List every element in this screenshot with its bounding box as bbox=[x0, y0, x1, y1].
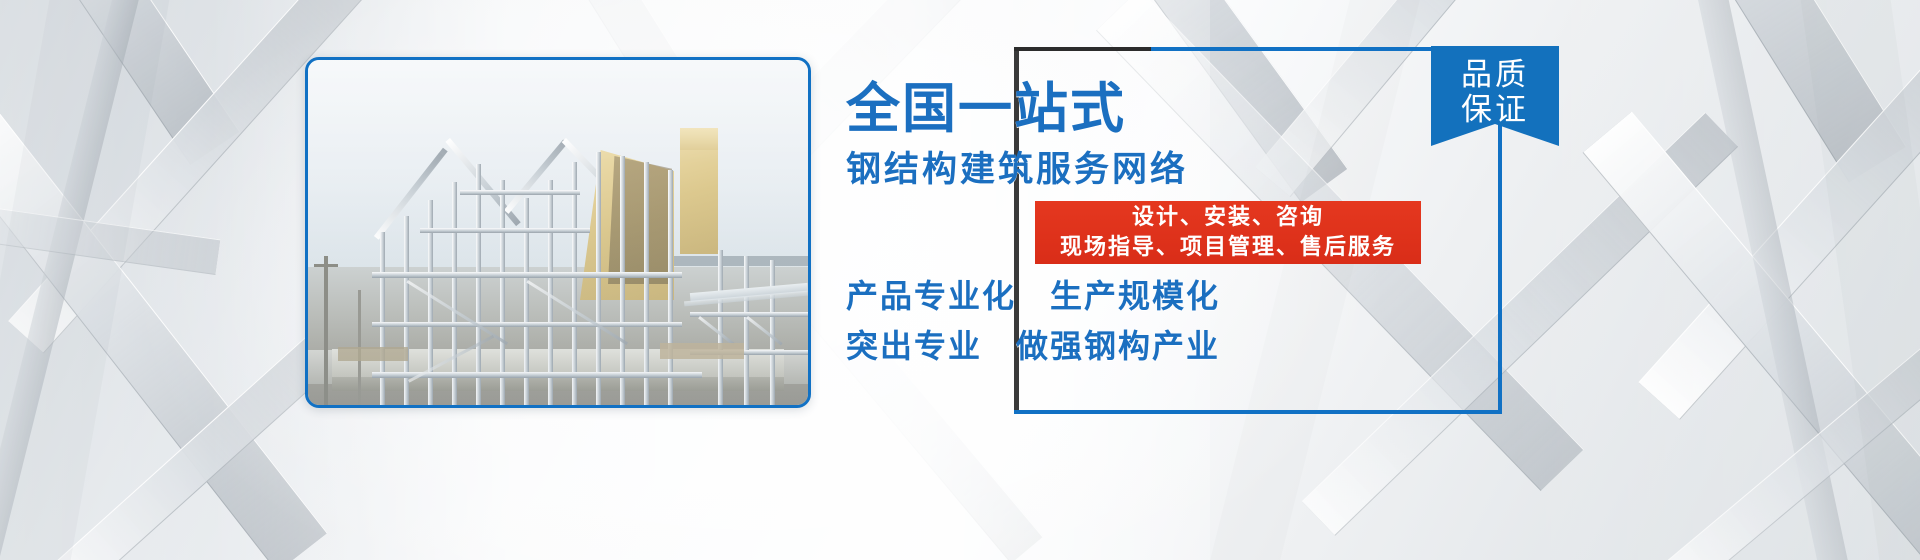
services-line-2: 现场指导、项目管理、售后服务 bbox=[1035, 233, 1421, 263]
services-red-callout: 设计、安装、咨询 现场指导、项目管理、售后服务 bbox=[1035, 201, 1421, 264]
frame-bottom-border bbox=[1014, 410, 1502, 414]
construction-photo-card bbox=[305, 57, 811, 408]
frame-top-border-dark bbox=[1014, 47, 1151, 51]
slogan-line-1: 产品专业化 生产规模化 bbox=[846, 275, 1220, 317]
banner-headline: 全国一站式 bbox=[846, 78, 1176, 140]
badge-line-2: 保证 bbox=[1431, 93, 1559, 128]
badge-line-1: 品质 bbox=[1431, 58, 1559, 93]
steel-frame-house-photo bbox=[308, 60, 808, 405]
slogan-line-2: 突出专业 做强钢构产业 bbox=[846, 325, 1220, 367]
badge-text: 品质 保证 bbox=[1431, 58, 1559, 128]
steel-structure-promo-banner: 全国一站式 钢结构建筑服务网络 设计、安装、咨询 现场指导、项目管理、售后服务 … bbox=[0, 0, 1920, 560]
banner-subheadline: 钢结构建筑服务网络 bbox=[846, 148, 1246, 192]
quality-guarantee-badge: 品质 保证 bbox=[1431, 46, 1559, 146]
services-line-1: 设计、安装、咨询 bbox=[1035, 201, 1421, 233]
